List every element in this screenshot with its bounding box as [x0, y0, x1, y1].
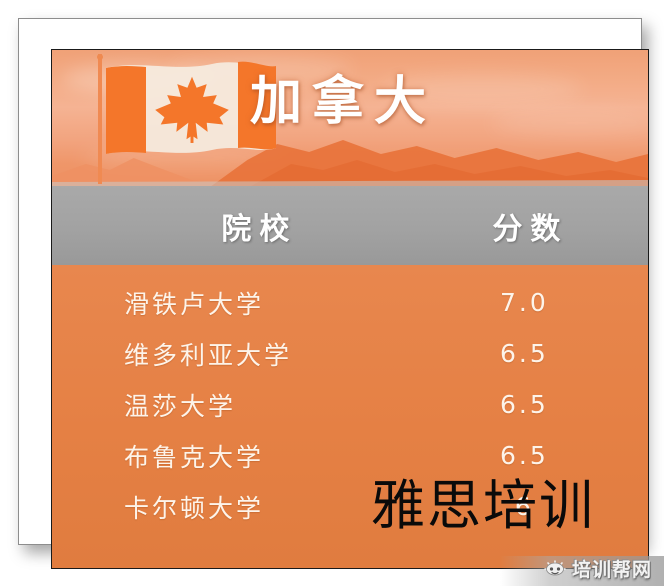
- cell-university-score: 6.5: [431, 339, 648, 368]
- cell-university-name: 布鲁克大学: [52, 438, 431, 474]
- column-header-score: 分数: [431, 204, 648, 248]
- smiley-sun-icon: [544, 560, 566, 578]
- cell-university-score: 6.5: [431, 390, 648, 419]
- table-header-row: 院校 分数: [52, 186, 648, 265]
- table-row: 滑铁卢大学 7.0: [52, 277, 648, 328]
- table-row: 维多利亚大学 6.5: [52, 328, 648, 379]
- outer-card-frame: 加拿大 院校 分数 滑铁卢大学 7.0 维多利亚大学 6.5 温莎大学 6.5 …: [18, 18, 642, 545]
- banner-header: 加拿大: [52, 50, 648, 186]
- cell-university-score: 6.5: [431, 441, 648, 470]
- overlay-watermark-text: 雅思培训: [371, 479, 595, 533]
- site-watermark: 培训帮网: [538, 553, 660, 584]
- watermark-label: 培训帮网: [572, 555, 652, 582]
- column-header-name: 院校: [52, 204, 431, 248]
- cell-university-name: 维多利亚大学: [52, 336, 431, 372]
- cell-university-name: 滑铁卢大学: [52, 285, 431, 321]
- cell-university-score: 7.0: [431, 288, 648, 317]
- page-title: 加拿大: [250, 76, 436, 128]
- cell-university-name: 温莎大学: [52, 387, 431, 423]
- table-row: 温莎大学 6.5: [52, 379, 648, 430]
